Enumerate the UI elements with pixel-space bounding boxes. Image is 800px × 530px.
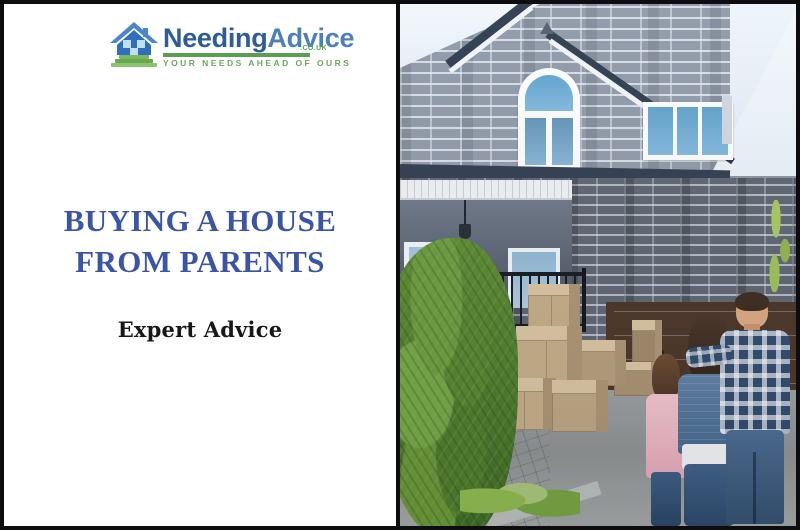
house-icon (108, 17, 160, 69)
person-man (720, 294, 790, 526)
article-banner: NeedingAdvice .CO.UK YOUR NEEDS AHEAD OF… (0, 0, 800, 530)
moving-box (516, 326, 582, 384)
page-subtitle: Expert Advice (26, 317, 374, 343)
triple-window (643, 102, 733, 160)
site-logo[interactable]: NeedingAdvice .CO.UK YOUR NEEDS AHEAD OF… (108, 16, 354, 74)
arched-window-lower-right-pane (552, 118, 573, 165)
moving-box (552, 380, 608, 432)
photo-stage (400, 4, 796, 526)
logo-tagline: YOUR NEEDS AHEAD OF OURS (163, 58, 354, 68)
porch-lamp-icon (464, 200, 466, 226)
logo-word-first: Needing (163, 23, 267, 53)
porch-soffit (400, 180, 572, 200)
arched-window-upper-pane (525, 75, 573, 111)
hero-photo (396, 4, 796, 526)
page-title: BUYING A HOUSE FROM PARENTS (26, 200, 374, 282)
text-panel: NeedingAdvice .CO.UK YOUR NEEDS AHEAD OF… (4, 4, 396, 526)
family-group (660, 276, 792, 526)
triple-window-pane-2 (677, 107, 698, 155)
arched-window (518, 68, 580, 172)
ground-plants (460, 472, 580, 520)
downpipe (722, 96, 732, 144)
moving-box (528, 284, 580, 330)
logo-underline-rule: .CO.UK (163, 53, 310, 57)
headline-block: BUYING A HOUSE FROM PARENTS Expert Advic… (4, 200, 396, 343)
logo-tld: .CO.UK (300, 45, 327, 52)
triple-window-pane-1 (648, 107, 673, 155)
arched-window-lower-left-pane (525, 118, 546, 165)
logo-wordmark: NeedingAdvice .CO.UK YOUR NEEDS AHEAD OF… (163, 16, 354, 68)
